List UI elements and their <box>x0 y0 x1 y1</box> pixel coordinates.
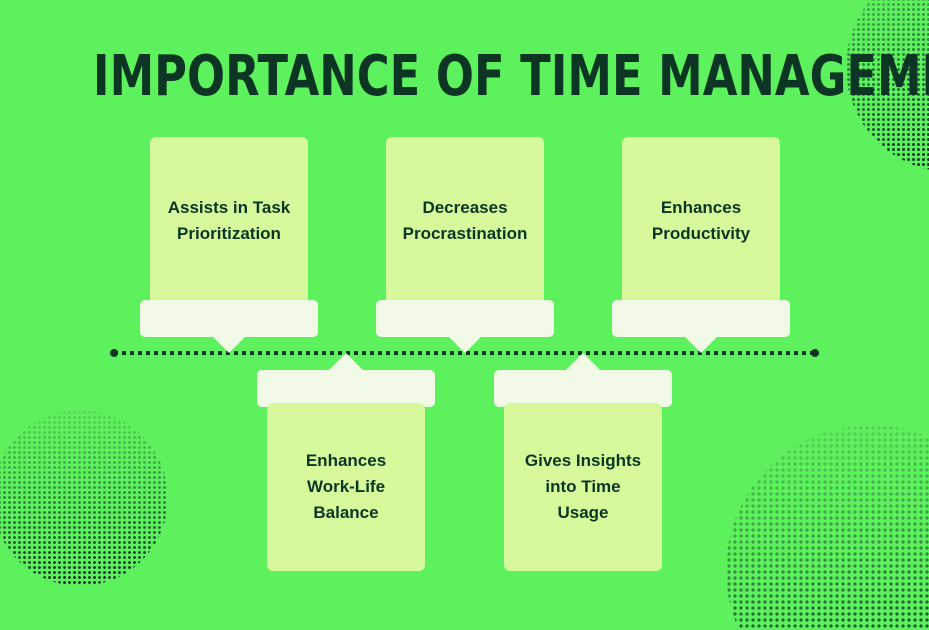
node-pointer-up-icon <box>566 353 600 370</box>
node-base-bar <box>257 370 435 407</box>
node-pointer-down-icon <box>212 336 246 353</box>
node-base-bar <box>140 300 318 337</box>
timeline-node-4[interactable]: Enhances Work-Life Balance <box>257 353 435 569</box>
node-base-bar <box>612 300 790 337</box>
node-base-bar <box>376 300 554 337</box>
node-pointer-down-icon <box>448 336 482 353</box>
node-card-label: Enhances Work-Life Balance <box>267 403 425 571</box>
node-pointer-up-icon <box>329 353 363 370</box>
node-card-label: Assists in Task Prioritization <box>150 137 308 305</box>
timeline-end-dot-icon <box>811 349 819 357</box>
halftone-circle-bottom-right-icon <box>726 425 929 630</box>
page-title: IMPORTANCE OF TIME MANAGEMENT TOOLS <box>93 45 836 109</box>
halftone-dots <box>726 425 929 630</box>
timeline-node-2[interactable]: Decreases Procrastination <box>376 137 554 353</box>
node-pointer-down-icon <box>684 336 718 353</box>
timeline-node-5[interactable]: Gives Insights into Time Usage <box>494 353 672 569</box>
halftone-circle-bottom-left-icon <box>0 410 168 586</box>
timeline-node-1[interactable]: Assists in Task Prioritization <box>140 137 318 353</box>
timeline-node-3[interactable]: Enhances Productivity <box>612 137 790 353</box>
node-card-label: Decreases Procrastination <box>386 137 544 305</box>
node-card-label: Gives Insights into Time Usage <box>504 403 662 571</box>
node-card-label: Enhances Productivity <box>622 137 780 305</box>
halftone-dots <box>0 410 168 586</box>
node-base-bar <box>494 370 672 407</box>
infographic-canvas: IMPORTANCE OF TIME MANAGEMENT TOOLS Assi… <box>0 0 929 630</box>
timeline-start-dot-icon <box>110 349 118 357</box>
